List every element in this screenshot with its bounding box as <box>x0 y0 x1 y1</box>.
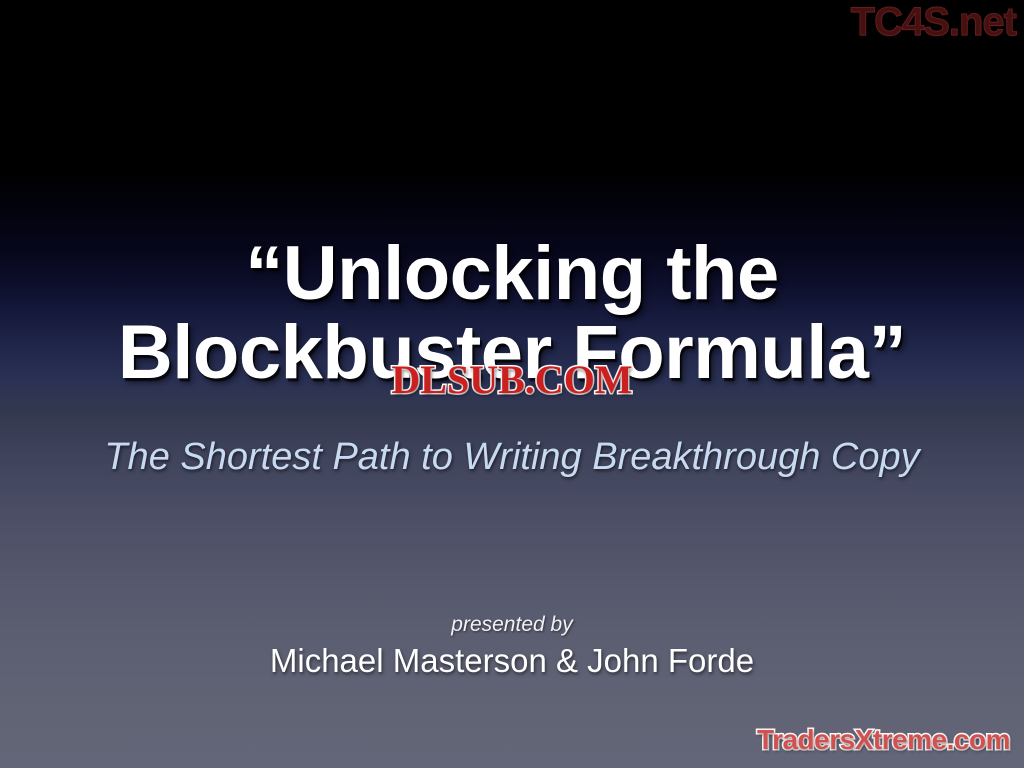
title-line-1: “Unlocking the <box>0 234 1024 313</box>
presenter-names: Michael Masterson & John Forde <box>0 643 1024 679</box>
tc4s-watermark: TC4S.net <box>851 2 1016 42</box>
slide-subtitle: The Shortest Path to Writing Breakthroug… <box>0 436 1024 479</box>
title-line-2: Blockbuster Formula” <box>0 313 1024 392</box>
slide-title: “Unlocking the Blockbuster Formula” <box>0 234 1024 392</box>
presenter-block: presented by Michael Masterson & John Fo… <box>0 612 1024 679</box>
tradersxtreme-logo: TradersXtreme.com <box>757 726 1010 754</box>
presented-by-label: presented by <box>0 612 1024 637</box>
presentation-slide: TC4S.net “Unlocking the Blockbuster Form… <box>0 0 1024 768</box>
